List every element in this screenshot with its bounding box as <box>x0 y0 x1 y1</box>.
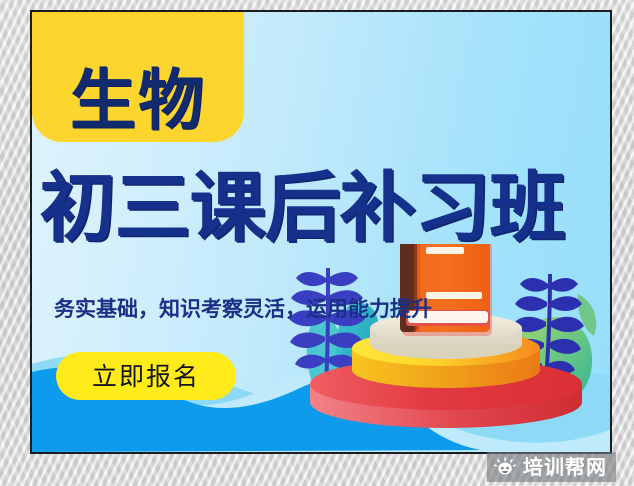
subject-badge-label: 生物 <box>70 68 206 134</box>
watermark: 培训帮网 <box>487 452 616 482</box>
subtitle-text: 务实基础，知识考察灵活，运用能力提升 <box>54 299 432 320</box>
page-title: 初三课后补习班 <box>40 170 612 246</box>
book-podium-illustration <box>278 244 612 444</box>
watermark-text: 培训帮网 <box>523 457 607 477</box>
enroll-now-button[interactable]: 立即报名 <box>56 352 236 400</box>
sun-face-icon <box>494 457 516 477</box>
course-poster: 生物 初三课后补习班 务实基础，知识考察灵活，运用能力提升 立即报名 <box>30 10 612 454</box>
page-backdrop: 生物 初三课后补习班 务实基础，知识考察灵活，运用能力提升 立即报名 <box>0 0 634 486</box>
book <box>400 244 492 336</box>
enroll-now-label: 立即报名 <box>92 364 200 389</box>
subject-badge: 生物 <box>32 10 244 142</box>
